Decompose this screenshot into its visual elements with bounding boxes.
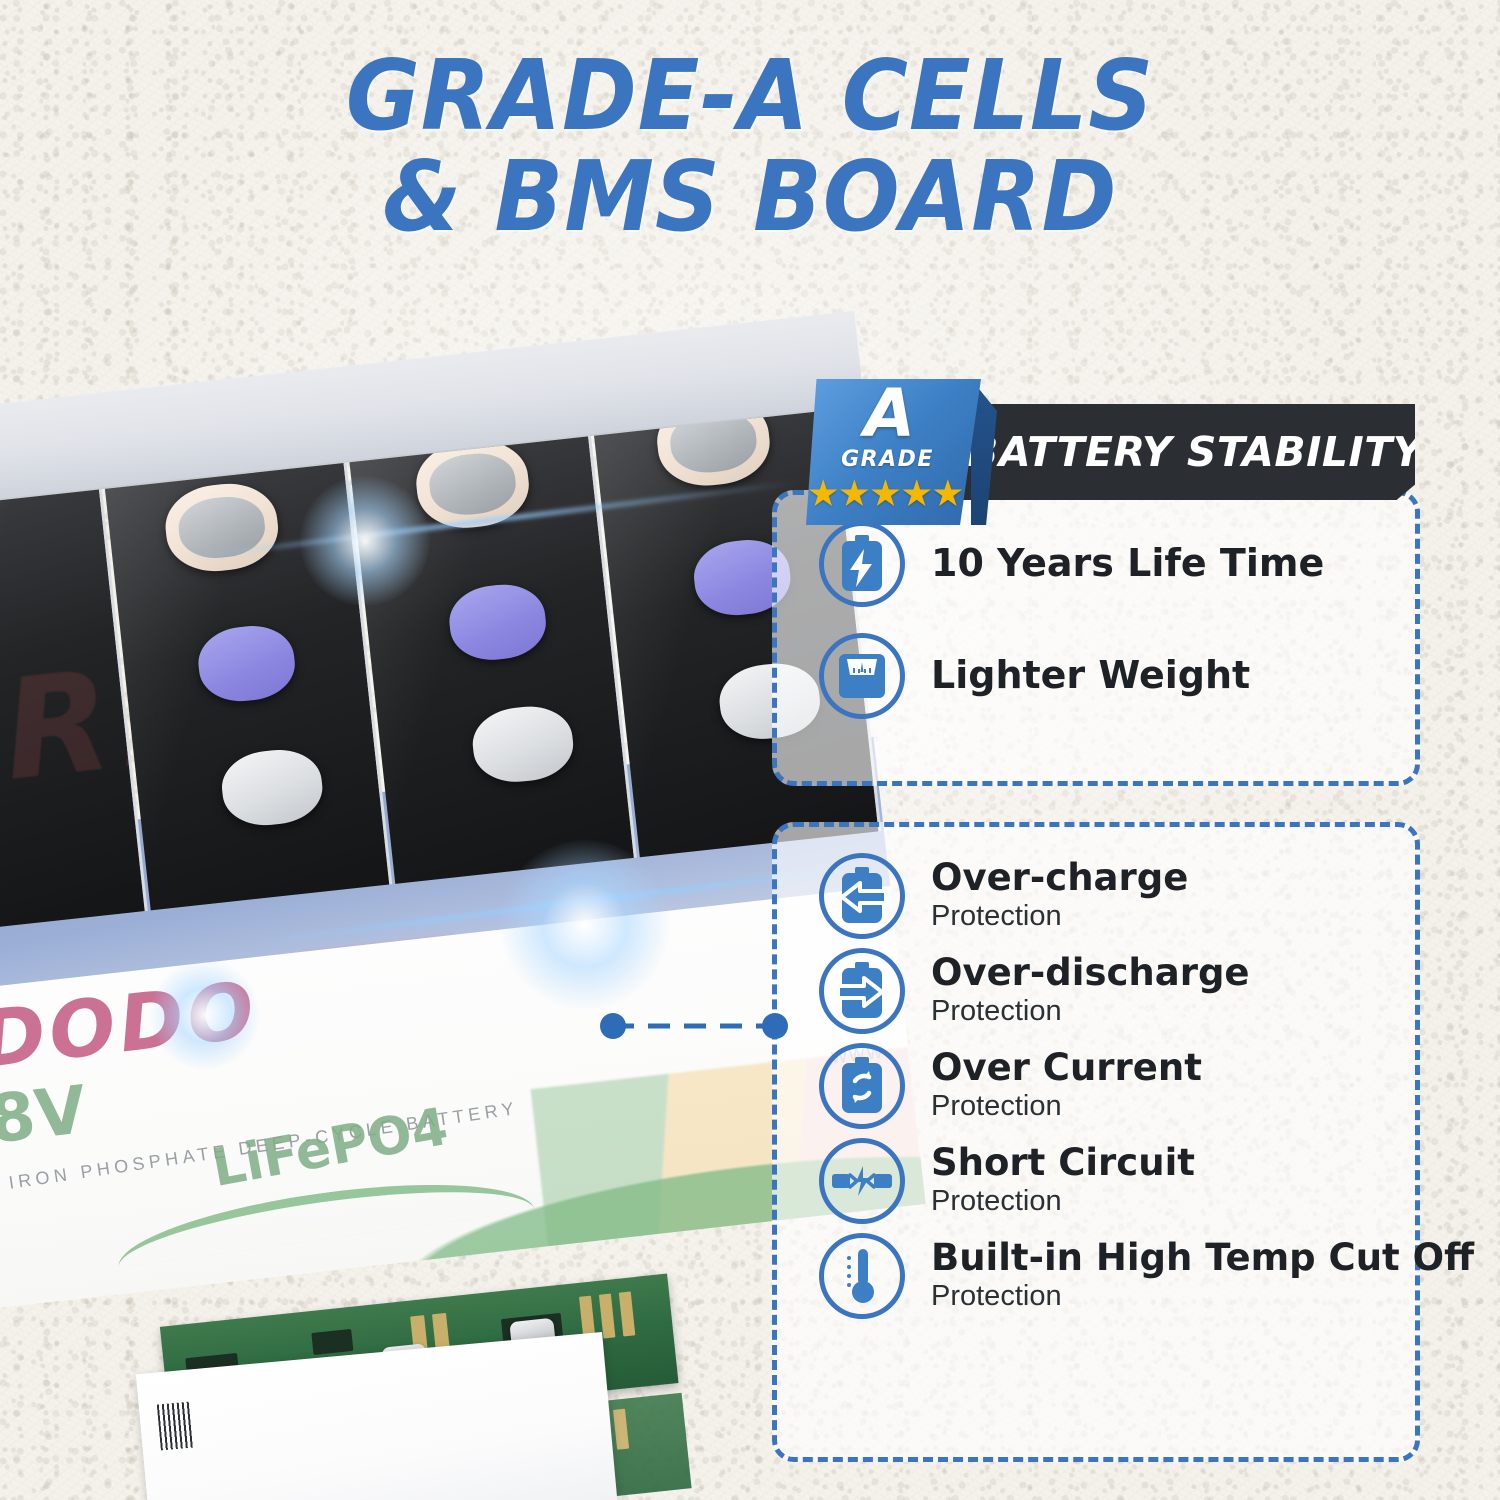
badge-grade-label: GRADE xyxy=(806,447,969,472)
thermometer-icon xyxy=(819,1233,905,1319)
battery-bolt-icon xyxy=(819,521,905,607)
feature-row-over-current: Over Current Protection xyxy=(819,1043,1415,1129)
feature-row-life-time: 10 Years Life Time xyxy=(819,521,1415,607)
cell-terminal-pad-violet xyxy=(446,580,549,664)
feature-text: 10 Years Life Time xyxy=(931,544,1324,584)
feature-row-over-discharge: Over-discharge Protection xyxy=(819,948,1415,1034)
infographic-canvas: GRADE-A CELLS & BMS BOARD STRONG REDODO … xyxy=(0,0,1500,1500)
callout-dot-target xyxy=(762,1013,788,1039)
feature-title: 10 Years Life Time xyxy=(931,544,1324,584)
feature-text: Over-discharge Protection xyxy=(931,954,1250,1028)
feature-subtitle: Protection xyxy=(931,1281,1474,1313)
feature-subtitle: Protection xyxy=(931,1186,1195,1218)
product-photo: STRONG REDODO 12.8V LITHIUM IRON PHOSPHA… xyxy=(0,400,880,1320)
cell-2 xyxy=(105,463,392,911)
feature-row-over-charge: Over-charge Protection xyxy=(819,853,1415,939)
feature-title: Over Current xyxy=(931,1049,1202,1088)
feature-subtitle: Protection xyxy=(931,901,1188,933)
feature-title: Built-in High Temp Cut Off xyxy=(931,1239,1474,1278)
feature-title: Lighter Weight xyxy=(931,656,1250,696)
cell-terminal-pad-cream xyxy=(161,479,282,577)
feature-title: Over-charge xyxy=(931,859,1188,898)
badge-grade-letter: A xyxy=(806,381,973,447)
feature-row-lighter-weight: Lighter Weight xyxy=(819,633,1415,719)
callout-dot-source xyxy=(600,1013,626,1039)
protection-features-panel: Over-charge Protection Over-discharge Pr… xyxy=(772,822,1420,1462)
feature-text: Short Circuit Protection xyxy=(931,1144,1195,1218)
battery-recycle-icon xyxy=(819,1043,905,1129)
short-circuit-icon xyxy=(819,1138,905,1224)
banner-title: BATTERY STABILITY xyxy=(955,404,1415,500)
bms-board xyxy=(130,1274,691,1500)
feature-text: Over Current Protection xyxy=(931,1049,1202,1123)
feature-subtitle: Protection xyxy=(931,996,1250,1028)
feature-text: Built-in High Temp Cut Off Protection xyxy=(931,1239,1474,1313)
feature-text: Lighter Weight xyxy=(931,656,1250,696)
barcode-icon xyxy=(157,1402,195,1451)
battery-stability-panel: 10 Years Life Time Lighter Weight xyxy=(772,490,1420,786)
weight-scale-icon xyxy=(819,633,905,719)
battery-arrow-out-icon xyxy=(819,948,905,1034)
feature-row-high-temp-cut-off: Built-in High Temp Cut Off Protection xyxy=(819,1233,1415,1319)
feature-title: Short Circuit xyxy=(931,1144,1195,1183)
cell-terminal-pad-silver xyxy=(469,702,576,786)
badge-star-rating: ★★★★★ xyxy=(798,475,971,512)
feature-subtitle: Protection xyxy=(931,1091,1202,1123)
grade-a-badge: A GRADE ★★★★★ xyxy=(806,379,981,525)
cell-terminal-pad-silver xyxy=(218,745,325,829)
cell-3 xyxy=(349,436,636,884)
cell-terminal-pad-violet xyxy=(195,622,298,706)
feature-title: Over-discharge xyxy=(931,954,1250,993)
battery-stability-banner: BATTERY STABILITY xyxy=(955,404,1415,500)
battery-arrow-in-icon xyxy=(819,853,905,939)
feature-row-short-circuit: Short Circuit Protection xyxy=(819,1138,1415,1224)
feature-text: Over-charge Protection xyxy=(931,859,1188,933)
